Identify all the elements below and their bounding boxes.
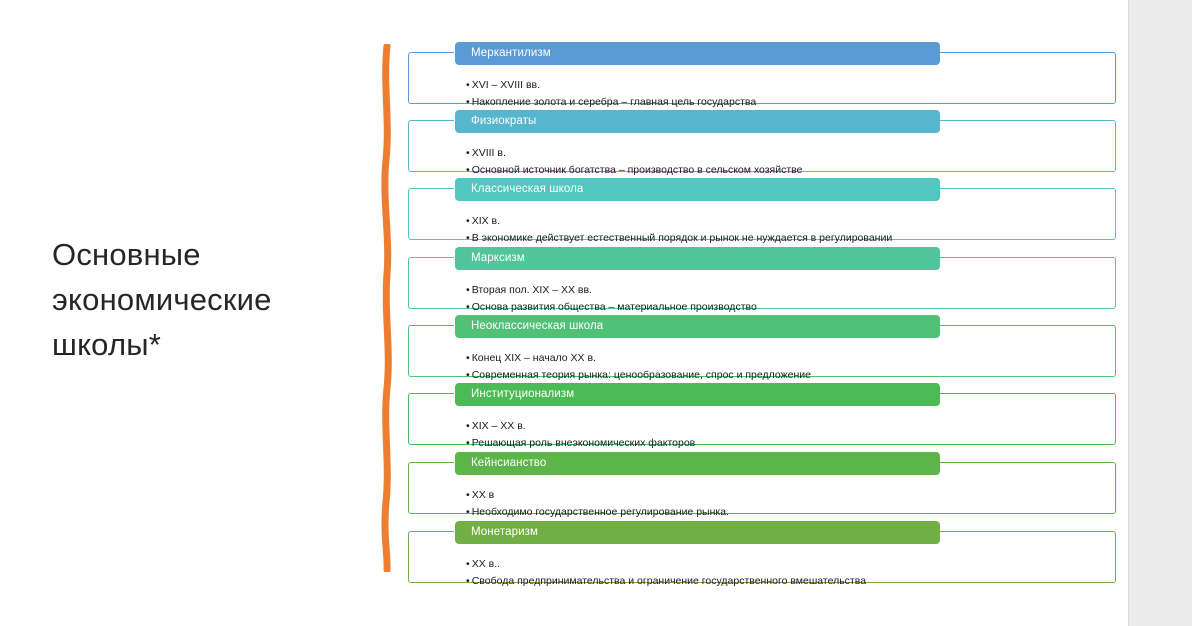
bullet-item: •XIX – XX в. <box>466 418 1116 435</box>
bullet-text: Вторая пол. XIX – XX вв. <box>472 284 592 296</box>
bullet-text: Основа развития общества – материальное … <box>472 301 757 313</box>
block-header[interactable]: Классическая школа <box>455 178 940 201</box>
diagram-block[interactable]: Классическая школа •XIX в. •В экономике … <box>408 178 1116 240</box>
bullet-text: XVI – XVIII вв. <box>472 79 540 91</box>
economic-schools-diagram: Меркантилизм •XVI – XVIII вв. •Накоплени… <box>0 0 1128 626</box>
block-body: •XX в.. •Свобода предпринимательства и о… <box>408 547 1116 598</box>
bullet-item: •Необходимо государственное регулировани… <box>466 504 1116 521</box>
bullet-item: •Конец XIX – начало XX в. <box>466 350 1116 367</box>
bullet-glyph: • <box>466 94 470 111</box>
bullet-glyph: • <box>466 504 470 521</box>
block-header-label: Классическая школа <box>455 183 583 196</box>
block-header-label: Монетаризм <box>455 526 538 539</box>
bullet-glyph: • <box>466 145 470 162</box>
bullet-glyph: • <box>466 556 470 573</box>
diagram-block[interactable]: Монетаризм •XX в.. •Свобода предпринимат… <box>408 521 1116 583</box>
block-header-label: Институционализм <box>455 388 574 401</box>
bullet-glyph: • <box>466 282 470 299</box>
bullet-item: •XVIII в. <box>466 145 1116 162</box>
bullet-text: XX в.. <box>472 558 500 570</box>
bullet-item: •Основа развития общества – материальное… <box>466 299 1116 316</box>
bullet-text: В экономике действует естественный поряд… <box>472 232 893 244</box>
bullet-text: Современная теория рынка: ценообразовани… <box>472 369 811 381</box>
diagram-block[interactable]: Неоклассическая школа •Конец XIX – начал… <box>408 315 1116 377</box>
bullet-text: Конец XIX – начало XX в. <box>472 352 596 364</box>
diagram-block[interactable]: Меркантилизм •XVI – XVIII вв. •Накоплени… <box>408 42 1116 104</box>
slide-canvas: Основные экономические школы* Меркантили… <box>0 0 1128 626</box>
bullet-glyph: • <box>466 213 470 230</box>
bullet-glyph: • <box>466 230 470 247</box>
bullet-glyph: • <box>466 299 470 316</box>
bullet-text: Основной источник богатства – производст… <box>472 164 803 176</box>
bullet-glyph: • <box>466 487 470 504</box>
block-header[interactable]: Марксизм <box>455 247 940 270</box>
bullet-item: •Современная теория рынка: ценообразован… <box>466 367 1116 384</box>
bullet-item: •XX в <box>466 487 1116 504</box>
bullet-glyph: • <box>466 418 470 435</box>
block-header[interactable]: Физиократы <box>455 110 940 133</box>
bullet-item: •Накопление золота и серебра – главная ц… <box>466 94 1116 111</box>
block-header-label: Кейнсианство <box>455 457 546 470</box>
bullet-text: XX в <box>472 489 495 501</box>
block-header[interactable]: Кейнсианство <box>455 452 940 475</box>
diagram-block[interactable]: Кейнсианство •XX в •Необходимо государст… <box>408 452 1116 514</box>
canvas-right-gutter <box>1128 0 1192 626</box>
bullet-glyph: • <box>466 77 470 94</box>
block-header[interactable]: Меркантилизм <box>455 42 940 65</box>
diagram-block[interactable]: Физиократы •XVIII в. •Основной источник … <box>408 110 1116 172</box>
bullet-item: •Решающая роль внеэкономических факторов <box>466 435 1116 452</box>
bullet-text: XIX в. <box>472 215 500 227</box>
block-header[interactable]: Институционализм <box>455 383 940 406</box>
bullet-text: Накопление золота и серебра – главная це… <box>472 96 757 108</box>
bullet-glyph: • <box>466 573 470 590</box>
block-header[interactable]: Монетаризм <box>455 521 940 544</box>
bullet-text: Решающая роль внеэкономических факторов <box>472 437 696 449</box>
block-header-label: Меркантилизм <box>455 47 551 60</box>
bullet-text: XIX – XX в. <box>472 420 526 432</box>
bullet-item: •Вторая пол. XIX – XX вв. <box>466 282 1116 299</box>
bullet-item: •Основной источник богатства – производс… <box>466 162 1116 179</box>
bullet-item: •В экономике действует естественный поря… <box>466 230 1116 247</box>
bullet-text: Свобода предпринимательства и ограничени… <box>472 575 866 587</box>
bullet-item: •Свобода предпринимательства и ограничен… <box>466 573 1116 590</box>
bullet-glyph: • <box>466 350 470 367</box>
block-header[interactable]: Неоклассическая школа <box>455 315 940 338</box>
bullet-item: •XVI – XVIII вв. <box>466 77 1116 94</box>
bullet-text: XVIII в. <box>472 147 506 159</box>
diagram-block[interactable]: Институционализм •XIX – XX в. •Решающая … <box>408 383 1116 445</box>
bullet-item: •XX в.. <box>466 556 1116 573</box>
bullet-glyph: • <box>466 367 470 384</box>
bullet-text: Необходимо государственное регулирование… <box>472 506 729 518</box>
bullet-glyph: • <box>466 162 470 179</box>
block-header-label: Физиократы <box>455 115 536 128</box>
bullet-glyph: • <box>466 435 470 452</box>
block-header-label: Марксизм <box>455 252 525 265</box>
block-header-label: Неоклассическая школа <box>455 320 603 333</box>
bullet-item: •XIX в. <box>466 213 1116 230</box>
diagram-block[interactable]: Марксизм •Вторая пол. XIX – XX вв. •Осно… <box>408 247 1116 309</box>
